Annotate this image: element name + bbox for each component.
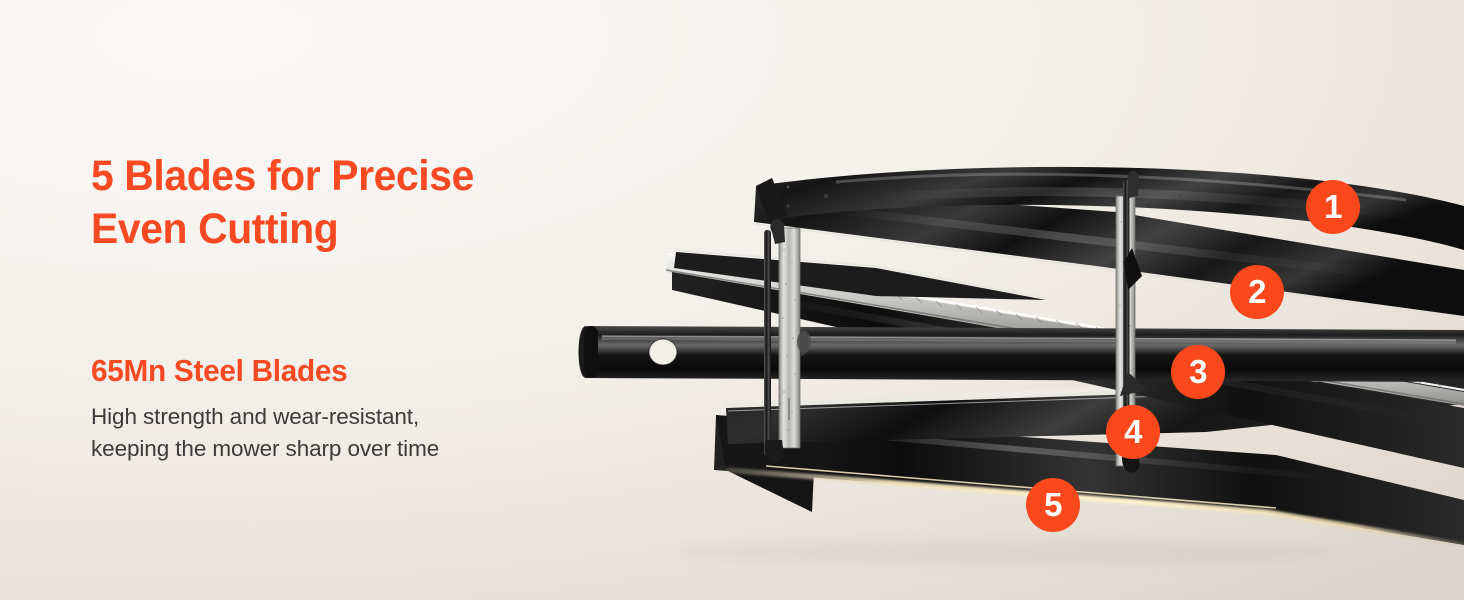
black-tube-shaft	[579, 326, 1464, 382]
callout-badge-2: 2	[1230, 265, 1284, 319]
callout-badge-1-label: 1	[1324, 190, 1342, 223]
callout-badge-4: 4	[1106, 405, 1160, 459]
feature-block: 65Mn Steel Blades High strength and wear…	[91, 352, 611, 465]
product-feature-banner: 5 Blades for Precise Even Cutting 65Mn S…	[0, 0, 1464, 600]
page-title: 5 Blades for Precise Even Cutting	[91, 150, 566, 257]
feature-description: High strength and wear-resistant, keepin…	[91, 401, 611, 465]
product-photo	[576, 0, 1464, 600]
bracket-rod-left	[764, 230, 771, 456]
callout-badge-3-label: 3	[1189, 355, 1207, 388]
callout-badge-1: 1	[1306, 180, 1360, 234]
callout-badge-4-label: 4	[1124, 415, 1142, 448]
feature-title: 65Mn Steel Blades	[91, 352, 590, 389]
callout-badge-5-label: 5	[1044, 488, 1062, 521]
callout-badge-3: 3	[1171, 345, 1225, 399]
callout-badge-2-label: 2	[1248, 275, 1266, 308]
headline-block: 5 Blades for Precise Even Cutting	[91, 150, 591, 257]
callout-badge-5: 5	[1026, 478, 1080, 532]
